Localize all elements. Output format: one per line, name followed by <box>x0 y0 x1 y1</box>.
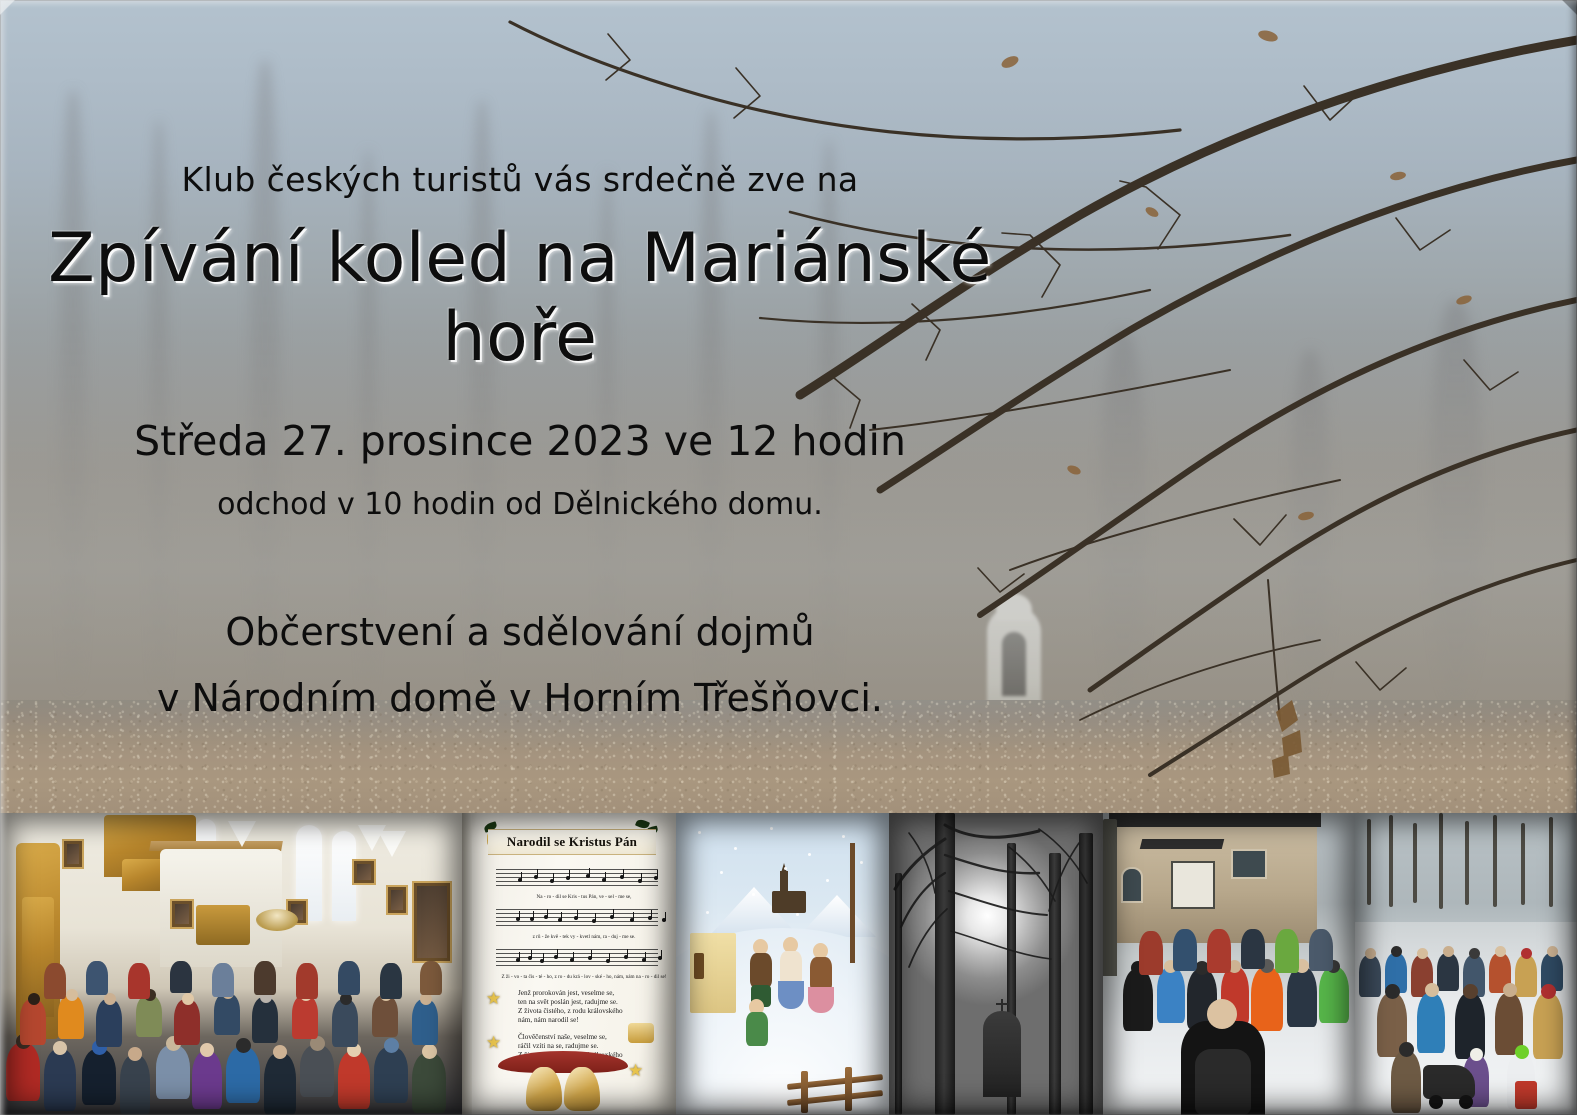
wayside-shrine <box>983 1011 1021 1097</box>
date-line: Středa 27. prosince 2023 ve 12 hodin <box>0 417 1040 465</box>
distant-tree-trunk <box>1290 350 1330 700</box>
pendant-lamp <box>228 821 256 847</box>
photo-strip: Narodil se Kristus Pán Na - ro - dil se … <box>0 813 1577 1115</box>
snowy-path-photo <box>1355 813 1577 1115</box>
stave-syllables: z rů - že kvě - tek vy - kvetl nám, ra -… <box>502 933 666 942</box>
distant-tree-trunk <box>1100 330 1146 700</box>
departure-line: odchod v 10 hodin od Dělnického domu. <box>0 487 1040 522</box>
framed-picture <box>352 859 376 885</box>
child-trousers <box>1515 1081 1537 1109</box>
pram-wheel <box>1459 1095 1473 1109</box>
church-crowd <box>0 940 462 1115</box>
music-stave <box>496 869 658 889</box>
village-church <box>772 891 806 913</box>
verse-one: Jenž prorokován jest, veselme se, ten na… <box>518 989 658 1025</box>
music-stave <box>496 949 658 969</box>
building-window <box>1231 849 1267 879</box>
carolers-illustration <box>676 813 889 1115</box>
stave-syllables: Z ži - vo - ta čis - té - ho, z ro - du … <box>498 973 670 982</box>
pendant-lamp <box>378 831 406 857</box>
music-stave <box>496 909 658 929</box>
wooden-fence <box>787 1061 883 1113</box>
foggy-trees-photo <box>889 813 1103 1115</box>
framed-picture <box>62 839 84 869</box>
building-roof <box>1109 813 1321 827</box>
backpack <box>1195 1049 1251 1115</box>
church-tower <box>780 871 788 893</box>
house-shutter <box>694 953 704 979</box>
porch-roof <box>1140 839 1224 849</box>
event-poster: Klub českých turistů vás srdečně zve na … <box>0 0 1577 1115</box>
stave-syllables: Na - ro - dil se Kris - tus Pán, ve - se… <box>502 893 666 902</box>
church-interior-photo <box>0 813 462 1115</box>
venue-line: v Národním domě v Horním Třešňovci. <box>0 676 1040 720</box>
song-title: Narodil se Kristus Pán <box>488 829 656 855</box>
book-spine <box>462 813 472 1115</box>
songbook-photo: Narodil se Kristus Pán Na - ro - dil se … <box>462 813 676 1115</box>
poster-text-block: Klub českých turistů vás srdečně zve na … <box>0 0 1040 720</box>
chandelier <box>256 909 298 931</box>
framed-picture <box>170 899 194 929</box>
pram <box>1423 1065 1475 1099</box>
organizer-line: Klub českých turistů vás srdečně zve na <box>0 160 1040 199</box>
bells-decoration-icon <box>498 1045 628 1111</box>
page-title: Zpívání koled na Mariánské hoře <box>0 219 1040 377</box>
entrance-door <box>1171 861 1215 909</box>
building-facade <box>1113 817 1317 943</box>
building-window <box>1121 867 1143 903</box>
distant-tree-trunk <box>1430 300 1482 700</box>
rocking-horse-icon <box>628 1023 654 1043</box>
pram-wheel <box>1429 1095 1443 1109</box>
bare-tree <box>850 843 855 963</box>
refreshment-line: Občerstvení a sdělování dojmů <box>0 610 1040 654</box>
framed-picture <box>386 885 408 915</box>
crowd-building-photo <box>1103 813 1355 1115</box>
